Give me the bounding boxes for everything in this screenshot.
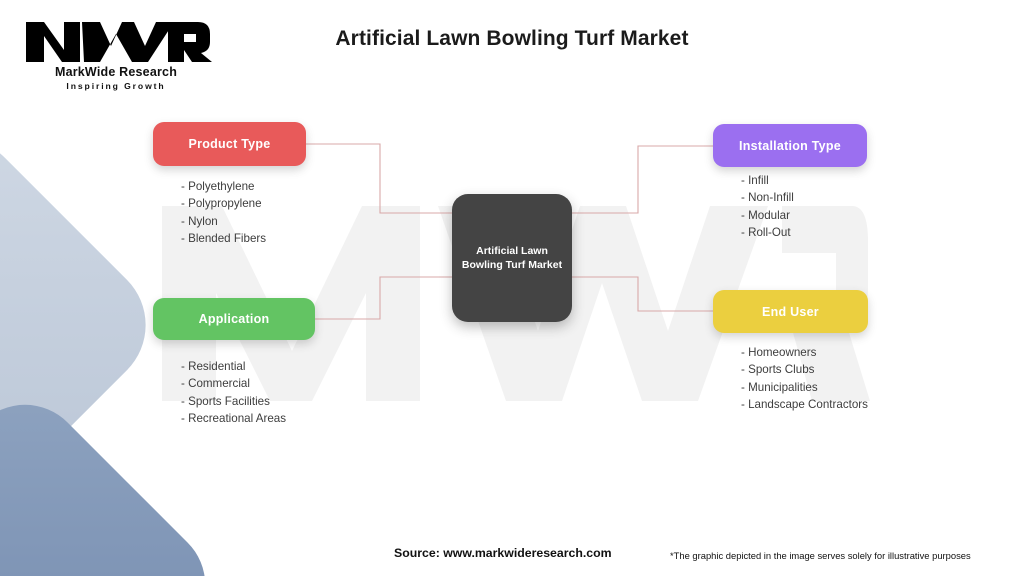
list-item: - Nylon [181, 213, 266, 230]
item-list-installation-type: - Infill - Non-Infill - Modular - Roll-O… [741, 172, 794, 241]
brand-tagline: Inspiring Growth [18, 81, 214, 91]
brand-name: MarkWide Research [18, 65, 214, 79]
category-label-product-type: Product Type [189, 137, 271, 151]
list-item: - Non-Infill [741, 189, 794, 206]
list-item: - Roll-Out [741, 224, 794, 241]
list-item: - Commercial [181, 375, 286, 392]
item-list-application: - Residential - Commercial - Sports Faci… [181, 358, 286, 427]
list-item: - Homeowners [741, 344, 868, 361]
category-box-installation-type[interactable]: Installation Type [713, 124, 867, 167]
category-box-end-user[interactable]: End User [713, 290, 868, 333]
list-item: - Sports Facilities [181, 393, 286, 410]
infographic-canvas: MarkWide Research Inspiring Growth Artif… [0, 0, 1024, 576]
list-item: - Municipalities [741, 379, 868, 396]
list-item: - Blended Fibers [181, 230, 266, 247]
category-box-application[interactable]: Application [153, 298, 315, 340]
category-label-installation-type: Installation Type [739, 139, 841, 153]
item-list-end-user: - Homeowners - Sports Clubs - Municipali… [741, 344, 868, 413]
center-node-market: Artificial Lawn Bowling Turf Market [452, 194, 572, 322]
list-item: - Infill [741, 172, 794, 189]
list-item: - Polypropylene [181, 195, 266, 212]
footer-source: Source: www.markwideresearch.com [394, 546, 612, 560]
list-item: - Sports Clubs [741, 361, 868, 378]
page-title: Artificial Lawn Bowling Turf Market [0, 27, 1024, 51]
center-node-line1: Artificial Lawn [476, 244, 548, 258]
footer-disclaimer: *The graphic depicted in the image serve… [670, 550, 971, 561]
category-box-product-type[interactable]: Product Type [153, 122, 306, 166]
category-label-application: Application [199, 312, 270, 326]
category-label-end-user: End User [762, 305, 819, 319]
list-item: - Modular [741, 207, 794, 224]
list-item: - Landscape Contractors [741, 396, 868, 413]
list-item: - Recreational Areas [181, 410, 286, 427]
center-node-line2: Bowling Turf Market [462, 258, 562, 272]
list-item: - Polyethylene [181, 178, 266, 195]
item-list-product-type: - Polyethylene - Polypropylene - Nylon -… [181, 178, 266, 247]
list-item: - Residential [181, 358, 286, 375]
